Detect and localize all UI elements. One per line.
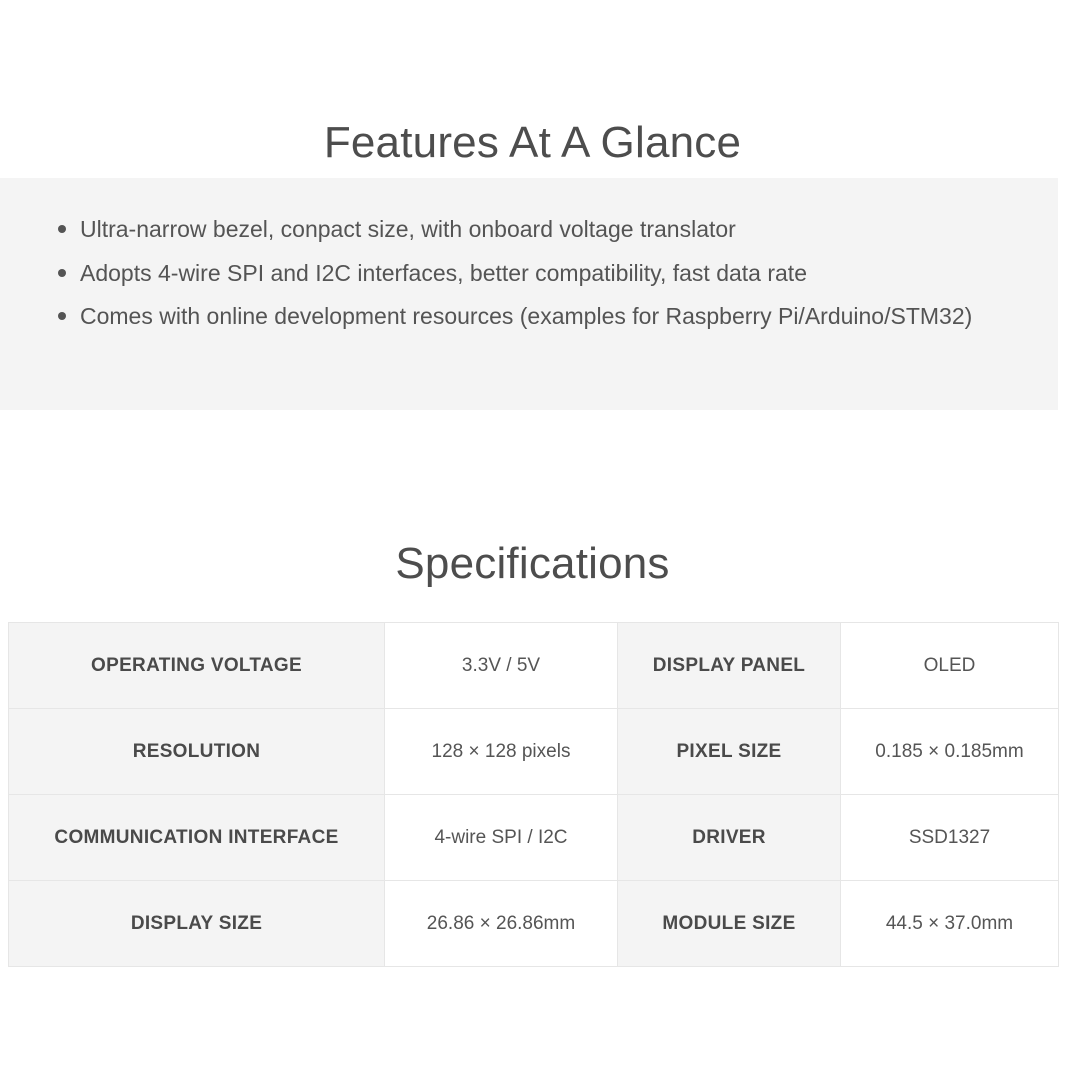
spec-value: SSD1327 — [841, 795, 1059, 881]
spec-label: OPERATING VOLTAGE — [9, 623, 385, 709]
specifications-heading: Specifications — [0, 542, 1065, 586]
specifications-table-container: OPERATING VOLTAGE 3.3V / 5V DISPLAY PANE… — [8, 622, 1058, 967]
table-row: RESOLUTION 128 × 128 pixels PIXEL SIZE 0… — [9, 709, 1059, 795]
features-heading: Features At A Glance — [0, 121, 1065, 165]
spec-label: DISPLAY PANEL — [618, 623, 841, 709]
spec-value: 0.185 × 0.185mm — [841, 709, 1059, 795]
spec-value: OLED — [841, 623, 1059, 709]
specifications-table: OPERATING VOLTAGE 3.3V / 5V DISPLAY PANE… — [8, 622, 1059, 967]
bullet-icon — [58, 225, 66, 233]
list-item-text: Ultra-narrow bezel, conpact size, with o… — [80, 216, 736, 242]
spec-value: 3.3V / 5V — [385, 623, 618, 709]
spec-label: DISPLAY SIZE — [9, 881, 385, 967]
list-item: Comes with online development resources … — [58, 295, 1018, 339]
spec-label: COMMUNICATION INTERFACE — [9, 795, 385, 881]
spec-label: PIXEL SIZE — [618, 709, 841, 795]
spec-label: MODULE SIZE — [618, 881, 841, 967]
spec-label: DRIVER — [618, 795, 841, 881]
spec-value: 128 × 128 pixels — [385, 709, 618, 795]
features-panel: Ultra-narrow bezel, conpact size, with o… — [0, 178, 1058, 410]
features-list: Ultra-narrow bezel, conpact size, with o… — [0, 208, 1058, 339]
spec-value: 4-wire SPI / I2C — [385, 795, 618, 881]
table-row: DISPLAY SIZE 26.86 × 26.86mm MODULE SIZE… — [9, 881, 1059, 967]
table-row: OPERATING VOLTAGE 3.3V / 5V DISPLAY PANE… — [9, 623, 1059, 709]
spec-label: RESOLUTION — [9, 709, 385, 795]
list-item: Ultra-narrow bezel, conpact size, with o… — [58, 208, 1018, 252]
bullet-icon — [58, 269, 66, 277]
list-item-text: Comes with online development resources … — [80, 303, 972, 329]
spec-value: 26.86 × 26.86mm — [385, 881, 618, 967]
list-item-text: Adopts 4-wire SPI and I2C interfaces, be… — [80, 260, 807, 286]
bullet-icon — [58, 312, 66, 320]
table-row: COMMUNICATION INTERFACE 4-wire SPI / I2C… — [9, 795, 1059, 881]
spec-value: 44.5 × 37.0mm — [841, 881, 1059, 967]
list-item: Adopts 4-wire SPI and I2C interfaces, be… — [58, 252, 1018, 296]
